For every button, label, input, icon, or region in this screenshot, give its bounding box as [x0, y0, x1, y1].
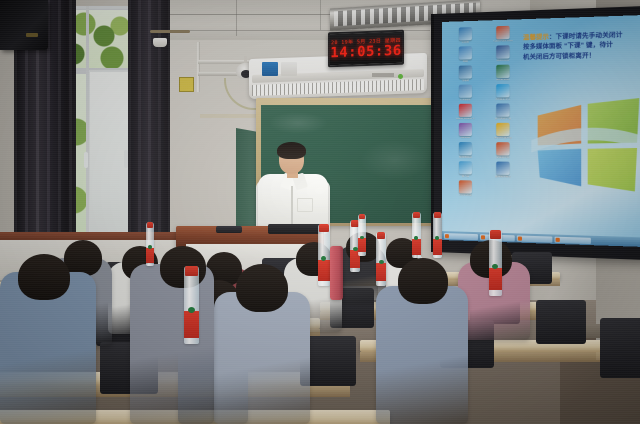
bottle-label [184, 311, 199, 338]
bottle-cap [185, 266, 198, 276]
bottle-cap [377, 232, 385, 239]
bottle-leaf-mark [360, 236, 364, 239]
bottle-label [146, 248, 154, 263]
thermos-bottle [330, 246, 343, 300]
bottle-leaf-mark [188, 307, 195, 313]
bottle-label [318, 260, 330, 281]
bottle-leaf-mark [414, 236, 418, 240]
bottle-leaf-mark [379, 260, 384, 264]
bottle-label [358, 238, 366, 252]
bottle-layer [0, 0, 640, 424]
bottle-cap [490, 230, 501, 239]
bottle-cap [147, 222, 153, 228]
bottle-leaf-mark [435, 236, 439, 240]
bottle-label [489, 268, 502, 290]
classroom-photo: 20 19年 5月 23日 星期四 14:05:36 [0, 0, 640, 424]
bottle-cap [413, 212, 420, 218]
bottle-cap [359, 214, 365, 219]
bottle-leaf-mark [148, 245, 152, 249]
bottle-label [412, 239, 421, 255]
bottle-leaf-mark [492, 264, 498, 269]
bottle-cap [319, 224, 329, 232]
bottle-cap [434, 212, 441, 218]
bottle-label [376, 263, 386, 281]
bottle-label [433, 239, 442, 255]
bottle-leaf-mark [321, 256, 326, 261]
